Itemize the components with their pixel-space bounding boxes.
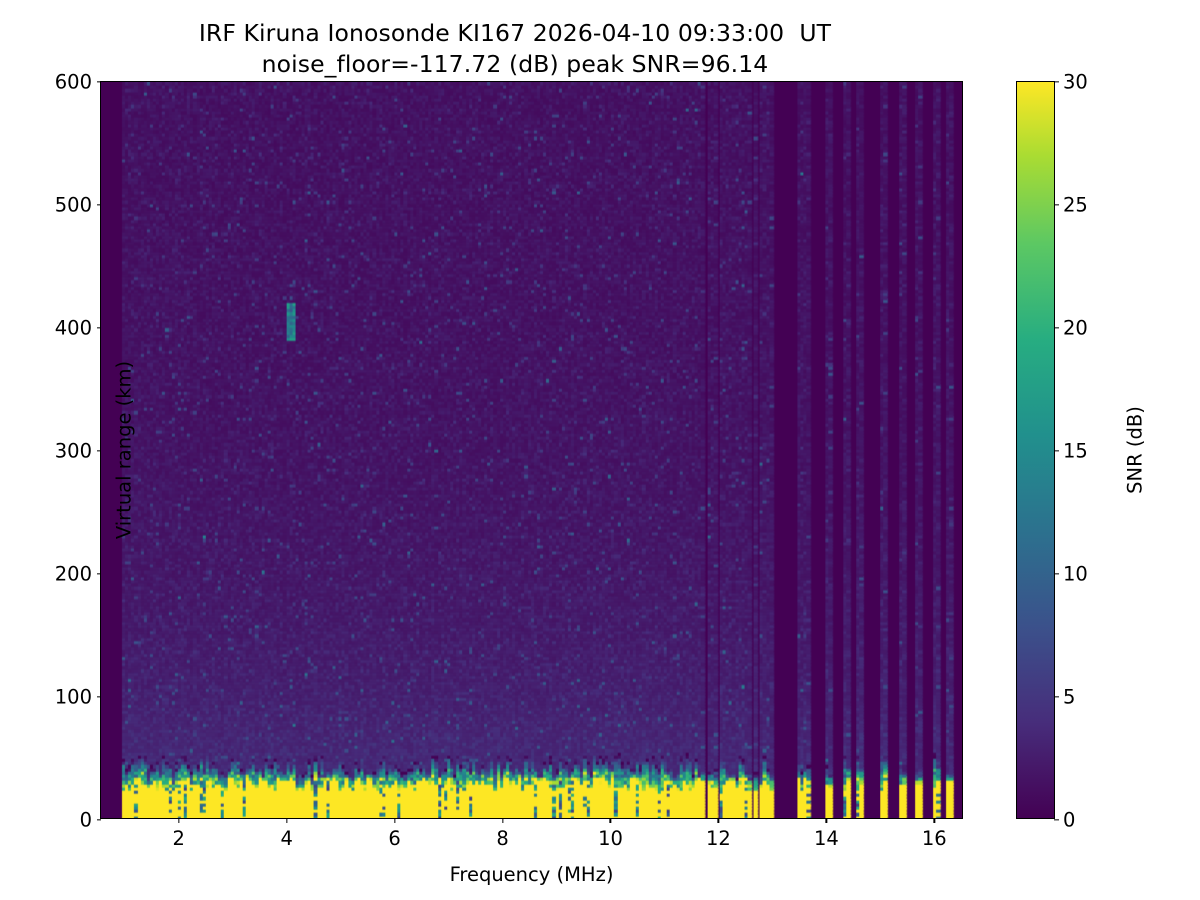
x-tick-mark bbox=[502, 818, 503, 823]
title-line-primary: IRF Kiruna Ionosonde KI167 2026-04-10 09… bbox=[0, 18, 1030, 49]
x-tick-mark bbox=[178, 818, 179, 823]
y-tick-label: 100 bbox=[55, 686, 101, 709]
x-tick-mark bbox=[286, 818, 287, 823]
ionogram-heatmap[interactable] bbox=[101, 82, 962, 818]
x-tick-label: 8 bbox=[496, 827, 508, 850]
colorbar-tick-label: 20 bbox=[1054, 317, 1088, 340]
colorbar-tick-label: 15 bbox=[1054, 440, 1088, 463]
x-tick-mark bbox=[610, 818, 611, 823]
y-tick-label: 0 bbox=[80, 809, 101, 832]
snr-colorbar[interactable]: SNR (dB) 051015202530 bbox=[1016, 81, 1055, 819]
title-line-secondary: noise_floor=-117.72 (dB) peak SNR=96.14 bbox=[0, 49, 1030, 80]
colorbar-tick-label: 25 bbox=[1054, 194, 1088, 217]
y-tick-label: 500 bbox=[55, 194, 101, 217]
y-tick-label: 400 bbox=[55, 317, 101, 340]
figure-title: IRF Kiruna Ionosonde KI167 2026-04-10 09… bbox=[0, 18, 1030, 79]
x-tick-label: 2 bbox=[172, 827, 184, 850]
x-tick-mark bbox=[718, 818, 719, 823]
x-axis-label: Frequency (MHz) bbox=[101, 863, 962, 886]
colorbar-tick-label: 10 bbox=[1054, 563, 1088, 586]
y-tick-label: 200 bbox=[55, 563, 101, 586]
x-tick-mark bbox=[934, 818, 935, 823]
colorbar-tick-label: 30 bbox=[1054, 71, 1088, 94]
y-axis-label: Virtual range (km) bbox=[113, 361, 136, 539]
x-tick-mark bbox=[826, 818, 827, 823]
x-tick-label: 6 bbox=[388, 827, 400, 850]
x-tick-label: 4 bbox=[280, 827, 292, 850]
colorbar-tick-label: 5 bbox=[1054, 686, 1075, 709]
colorbar-label: SNR (dB) bbox=[1123, 406, 1146, 494]
ionogram-plot-area[interactable]: Virtual range (km) Frequency (MHz) 01002… bbox=[100, 81, 963, 819]
y-tick-label: 600 bbox=[55, 71, 101, 94]
ionogram-figure: IRF Kiruna Ionosonde KI167 2026-04-10 09… bbox=[0, 0, 1200, 900]
x-tick-label: 16 bbox=[922, 827, 947, 850]
colorbar-tick-label: 0 bbox=[1054, 809, 1075, 832]
x-tick-label: 12 bbox=[706, 827, 731, 850]
x-tick-label: 14 bbox=[814, 827, 839, 850]
y-tick-label: 300 bbox=[55, 440, 101, 463]
x-tick-mark bbox=[394, 818, 395, 823]
colorbar-gradient bbox=[1017, 82, 1054, 818]
x-tick-label: 10 bbox=[598, 827, 623, 850]
